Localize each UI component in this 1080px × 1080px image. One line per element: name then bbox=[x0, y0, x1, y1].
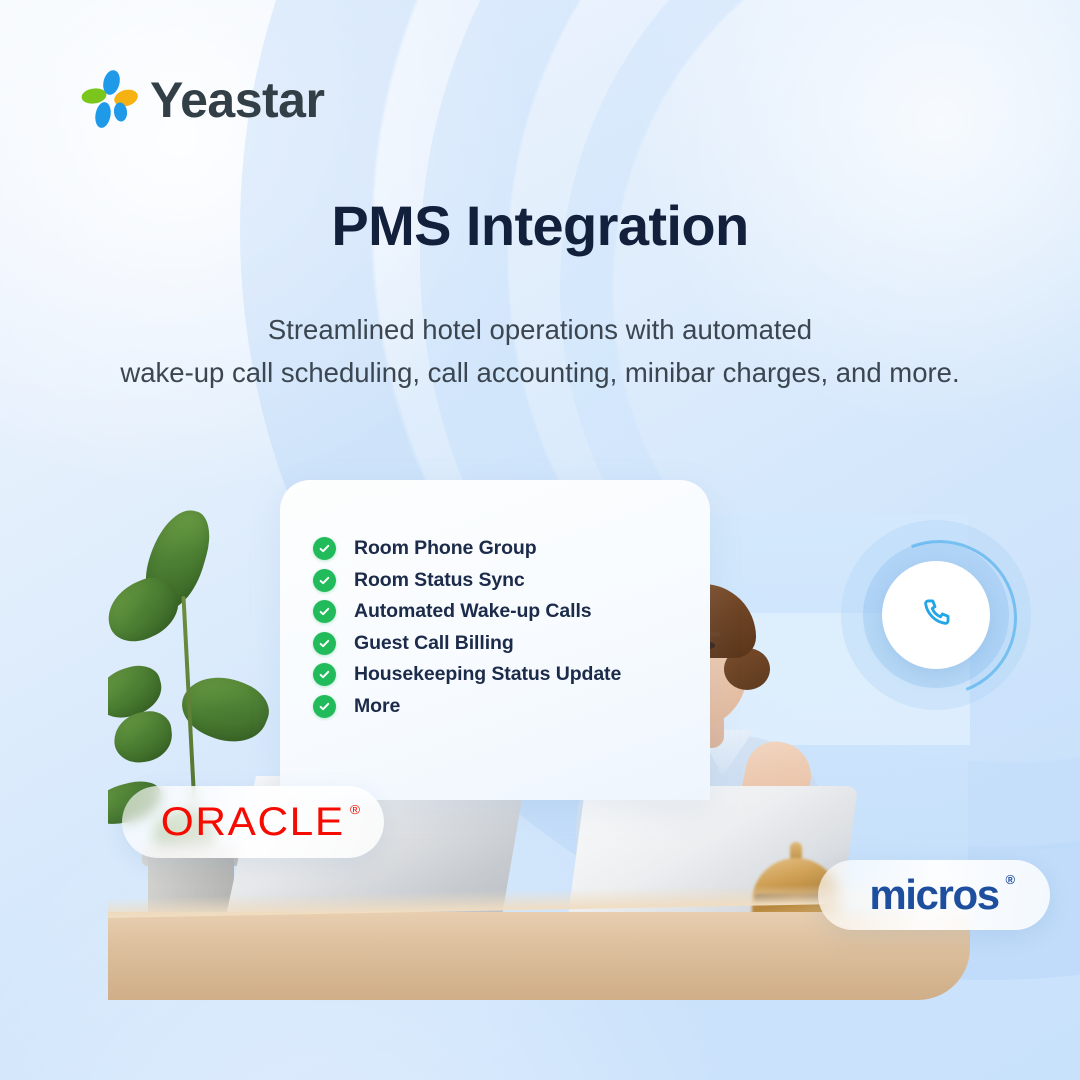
poster-canvas: Yeastar PMS Integration Streamlined hote… bbox=[0, 0, 1080, 1080]
micros-label: micros bbox=[869, 871, 998, 918]
registered-mark-icon: ® bbox=[1005, 872, 1013, 887]
list-item[interactable]: Automated Wake-up Calls bbox=[313, 596, 733, 628]
brand-wordmark: Yeastar bbox=[150, 75, 324, 125]
feature-list: Room Phone Group Room Status Sync Automa… bbox=[313, 533, 733, 722]
check-circle-icon bbox=[313, 663, 336, 686]
list-item[interactable]: Guest Call Billing bbox=[313, 628, 733, 660]
check-circle-icon bbox=[313, 569, 336, 592]
list-item[interactable]: More bbox=[313, 691, 733, 723]
check-circle-icon bbox=[313, 537, 336, 560]
list-item[interactable]: Room Phone Group bbox=[313, 533, 733, 565]
list-item-label: Guest Call Billing bbox=[354, 632, 514, 655]
page-subtitle: Streamlined hotel operations with automa… bbox=[0, 308, 1080, 395]
registered-mark-icon: ® bbox=[350, 802, 362, 817]
list-item-label: Automated Wake-up Calls bbox=[354, 600, 592, 623]
subtitle-line-2: wake-up call scheduling, call accounting… bbox=[0, 351, 1080, 394]
partner-badge-micros[interactable]: micros ® bbox=[818, 860, 1050, 930]
phone-handset-icon bbox=[919, 596, 953, 635]
call-bubble[interactable] bbox=[882, 561, 990, 669]
brand-logo[interactable]: Yeastar bbox=[78, 64, 338, 134]
list-item-label: Housekeeping Status Update bbox=[354, 663, 621, 686]
call-badge bbox=[841, 520, 1031, 710]
check-circle-icon bbox=[313, 600, 336, 623]
list-item[interactable]: Room Status Sync bbox=[313, 565, 733, 597]
list-item[interactable]: Housekeeping Status Update bbox=[313, 659, 733, 691]
list-item-label: Room Status Sync bbox=[354, 569, 525, 592]
oracle-label: ORACLE bbox=[161, 800, 345, 844]
micros-wordmark: micros ® bbox=[869, 871, 998, 919]
page-title: PMS Integration bbox=[0, 193, 1080, 258]
check-circle-icon bbox=[313, 695, 336, 718]
list-item-label: Room Phone Group bbox=[354, 537, 537, 560]
partner-badge-oracle[interactable]: ORACLE ® bbox=[122, 786, 384, 858]
check-circle-icon bbox=[313, 632, 336, 655]
list-item-label: More bbox=[354, 695, 400, 718]
oracle-wordmark: ORACLE ® bbox=[161, 800, 345, 845]
yeastar-pinwheel-icon bbox=[78, 68, 140, 130]
subtitle-line-1: Streamlined hotel operations with automa… bbox=[0, 308, 1080, 351]
